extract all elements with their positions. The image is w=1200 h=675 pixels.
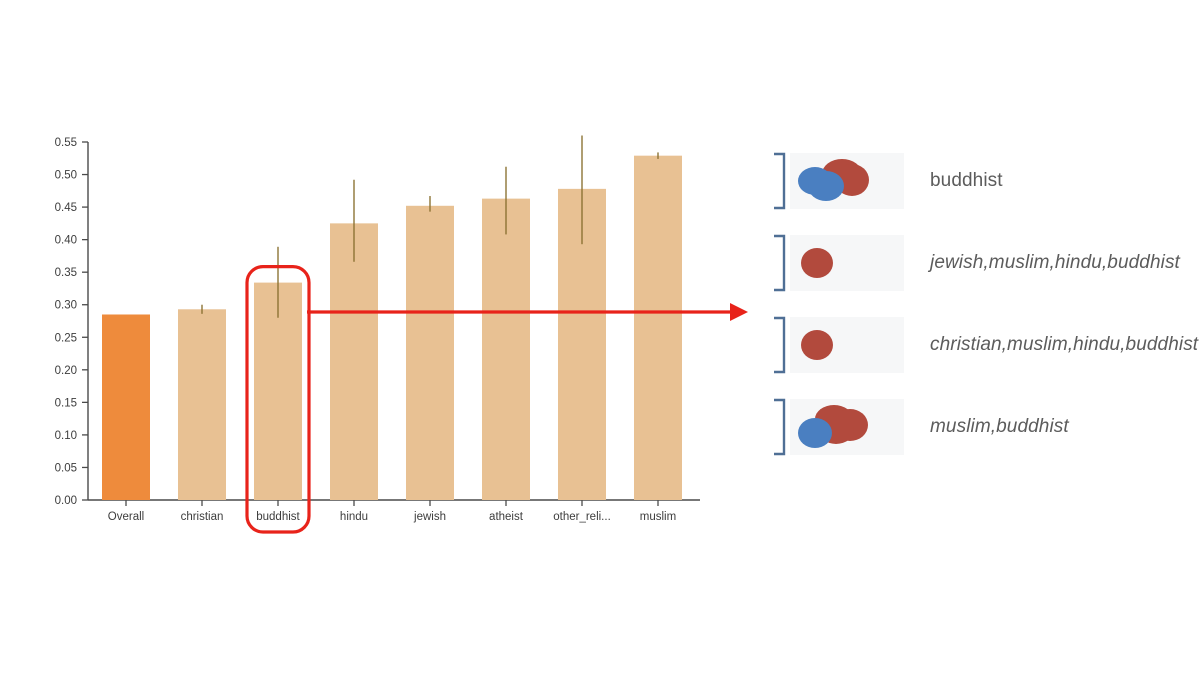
bracket-icon — [772, 316, 788, 374]
legend-label: jewish,muslim,hindu,buddhist — [930, 252, 1180, 274]
svg-text:0.35: 0.35 — [55, 267, 77, 279]
x-tick-label: atheist — [489, 511, 524, 523]
bar — [406, 206, 454, 500]
bar-chart-panel: 0.000.050.100.150.200.250.300.350.400.45… — [0, 0, 760, 675]
svg-text:0.45: 0.45 — [55, 202, 77, 214]
svg-text:0.40: 0.40 — [55, 235, 77, 247]
svg-text:0.20: 0.20 — [55, 365, 77, 377]
legend-row[interactable]: christian,muslim,hindu,buddhist — [772, 314, 1192, 376]
x-tick-label: hindu — [340, 511, 368, 523]
blob-swatch — [790, 399, 904, 455]
x-tick-labels: Overallchristianbuddhisthindujewishathei… — [108, 511, 676, 523]
svg-text:0.15: 0.15 — [55, 397, 77, 409]
legend-row[interactable]: muslim,buddhist — [772, 396, 1192, 458]
bar — [482, 199, 530, 500]
svg-text:0.25: 0.25 — [55, 332, 77, 344]
x-tick-label: buddhist — [256, 511, 300, 523]
legend-label: muslim,buddhist — [930, 416, 1069, 438]
legend-panel: buddhist jewish,muslim,hindu,buddhist ch… — [772, 150, 1192, 480]
blob-swatch — [790, 317, 904, 373]
cluster-blue-red-icon — [790, 153, 904, 209]
svg-text:0.55: 0.55 — [55, 137, 77, 149]
x-axis — [88, 500, 700, 506]
svg-text:0.10: 0.10 — [55, 430, 77, 442]
bracket-icon — [772, 152, 788, 210]
bar — [634, 156, 682, 500]
svg-text:0.30: 0.30 — [55, 300, 77, 312]
cluster-red-blue-icon — [790, 399, 904, 455]
single-red-icon — [790, 235, 904, 291]
svg-text:0.50: 0.50 — [55, 170, 77, 182]
bracket-icon — [772, 234, 788, 292]
bar-chart-svg: 0.000.050.100.150.200.250.300.350.400.45… — [0, 0, 760, 675]
bracket-icon — [772, 398, 788, 456]
bar — [178, 309, 226, 500]
blob-swatch — [790, 235, 904, 291]
single-red-icon — [790, 317, 904, 373]
blob-swatch — [790, 153, 904, 209]
bar — [102, 314, 150, 500]
x-tick-label: Overall — [108, 511, 144, 523]
x-tick-label: jewish — [413, 511, 446, 523]
svg-text:0.05: 0.05 — [55, 462, 77, 474]
svg-text:0.00: 0.00 — [55, 495, 77, 507]
legend-row[interactable]: buddhist — [772, 150, 1192, 212]
bar-series — [102, 156, 682, 500]
x-tick-label: christian — [181, 511, 224, 523]
legend-label: christian,muslim,hindu,buddhist — [930, 334, 1198, 356]
bar — [330, 223, 378, 500]
x-tick-label: other_reli... — [553, 511, 611, 523]
legend-row[interactable]: jewish,muslim,hindu,buddhist — [772, 232, 1192, 294]
legend-label: buddhist — [930, 170, 1003, 192]
x-tick-label: muslim — [640, 511, 676, 523]
y-axis: 0.000.050.100.150.200.250.300.350.400.45… — [55, 137, 88, 507]
annotation-arrow-head — [730, 303, 748, 321]
